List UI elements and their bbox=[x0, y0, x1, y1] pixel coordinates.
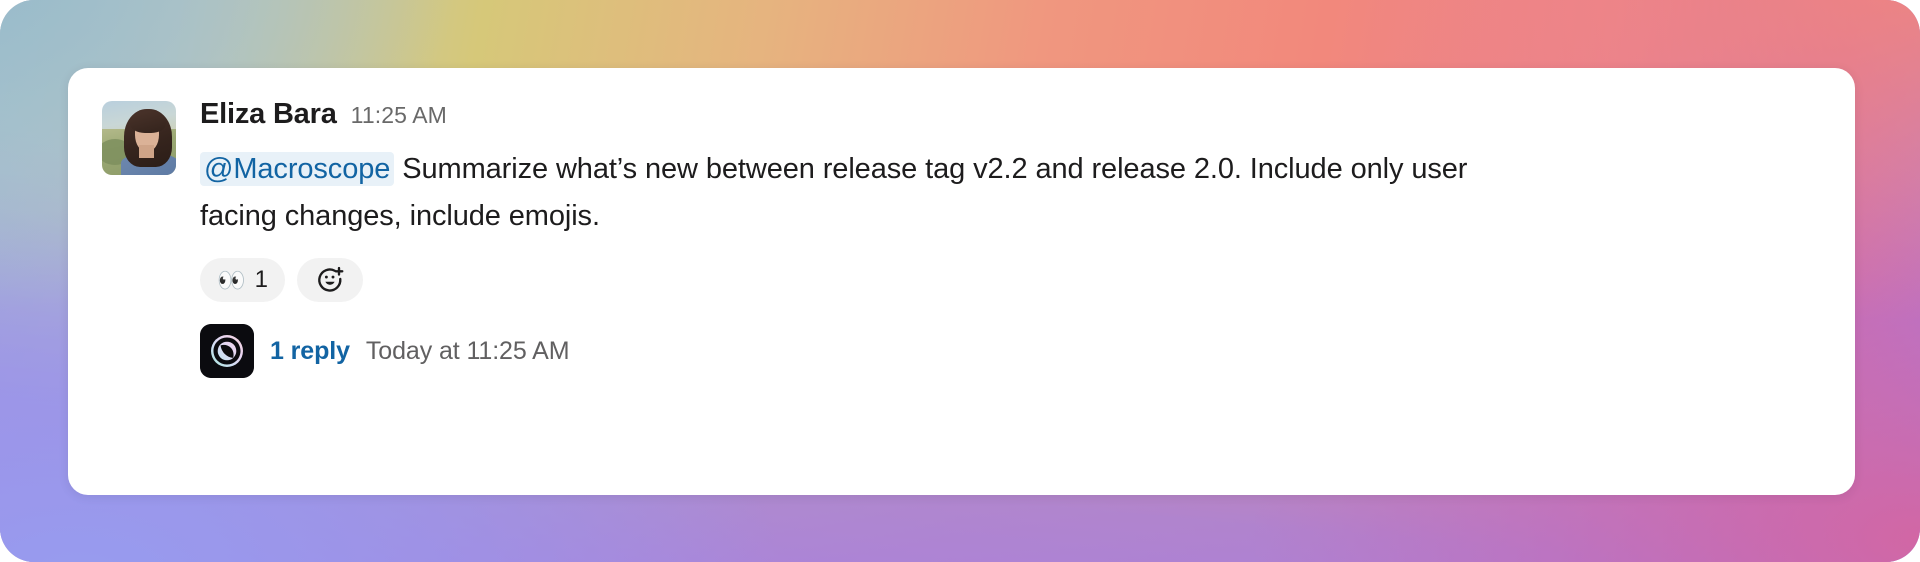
reactions-bar: 👀 1 bbox=[200, 258, 1821, 302]
slack-message-card: Eliza Bara 11:25 AM @Macroscope Summariz… bbox=[68, 68, 1855, 495]
author-name[interactable]: Eliza Bara bbox=[200, 98, 337, 131]
gradient-backdrop: Eliza Bara 11:25 AM @Macroscope Summariz… bbox=[0, 0, 1920, 562]
thread-last-reply-time: Today at 11:25 AM bbox=[366, 337, 570, 366]
add-reaction-button[interactable] bbox=[297, 258, 363, 302]
macroscope-logo-icon bbox=[200, 324, 254, 378]
add-reaction-icon bbox=[315, 265, 345, 295]
message-content: Eliza Bara 11:25 AM @Macroscope Summariz… bbox=[200, 98, 1821, 378]
macroscope-app-icon[interactable] bbox=[200, 324, 254, 378]
mention-macroscope[interactable]: @Macroscope bbox=[200, 152, 394, 186]
message-header: Eliza Bara 11:25 AM bbox=[200, 98, 1821, 132]
message-timestamp[interactable]: 11:25 AM bbox=[351, 102, 447, 129]
avatar-hair-front bbox=[130, 111, 166, 133]
reaction-count: 1 bbox=[255, 266, 268, 294]
thread-reply-link[interactable]: 1 reply bbox=[270, 337, 350, 366]
thread-summary[interactable]: 1 reply Today at 11:25 AM bbox=[200, 324, 1821, 378]
message-row: Eliza Bara 11:25 AM @Macroscope Summariz… bbox=[102, 98, 1821, 378]
reaction-eyes[interactable]: 👀 1 bbox=[200, 258, 285, 302]
eyes-emoji-icon: 👀 bbox=[217, 269, 246, 292]
avatar-neck bbox=[139, 145, 154, 158]
avatar[interactable] bbox=[102, 101, 176, 175]
message-text: @Macroscope Summarize what’s new between… bbox=[200, 146, 1500, 240]
